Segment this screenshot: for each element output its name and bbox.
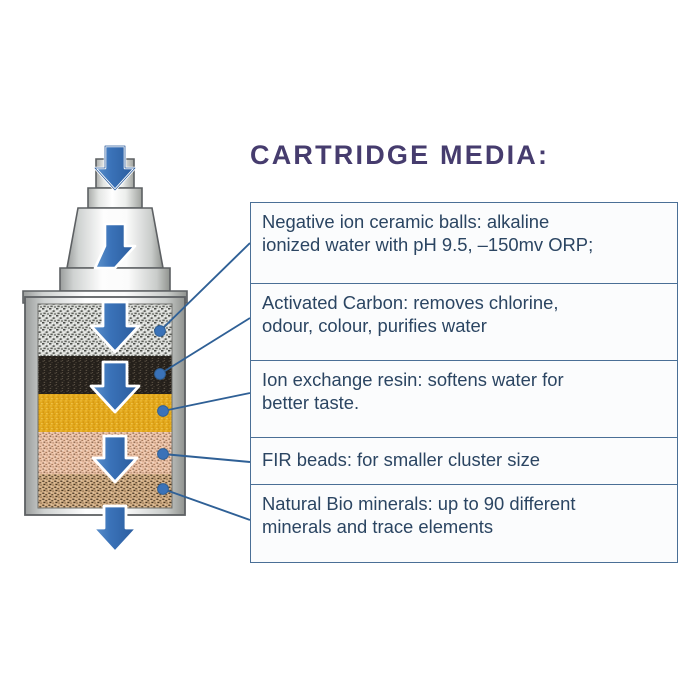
callout-ion-exchange-resin[interactable]: Ion exchange resin: softens water for be…	[251, 361, 677, 438]
media-layer-activated-carbon	[38, 356, 172, 394]
callout-negative-ion-ceramic-balls[interactable]: Negative ion ceramic balls: alkaline ion…	[251, 203, 677, 284]
callout-line-1: Activated Carbon: removes chlorine,	[262, 291, 667, 314]
diagram-canvas: CARTRIDGE MEDIA: Negative ion ceramic ba…	[0, 0, 700, 700]
flow-arrow-2	[95, 224, 135, 268]
leader-line-natural-bio-minerals	[158, 484, 250, 520]
leader-line-negative-ion-ceramic-balls	[155, 243, 250, 336]
cartridge-body	[25, 297, 185, 515]
callout-fir-beads[interactable]: FIR beads: for smaller cluster size	[251, 438, 677, 485]
callout-activated-carbon[interactable]: Activated Carbon: removes chlorine, odou…	[251, 284, 677, 361]
cartridge-cone	[67, 208, 163, 268]
flow-arrow-outlet	[93, 506, 137, 552]
media-layer-negative-ion-ceramic-balls	[38, 304, 172, 356]
cartridge-second-step	[88, 188, 142, 208]
leader-line-fir-beads	[158, 449, 250, 462]
media-layer-ion-exchange-resin	[38, 394, 172, 432]
cartridge-rim-flange	[23, 291, 187, 303]
callout-natural-bio-minerals[interactable]: Natural Bio minerals: up to 90 different…	[251, 485, 677, 562]
media-layer-natural-bio-minerals	[38, 474, 172, 508]
callout-line-2: minerals and trace elements	[262, 515, 667, 538]
flow-arrow-4	[91, 362, 139, 412]
callout-line-2: odour, colour, purifies water	[262, 314, 667, 337]
callout-line-1: Ion exchange resin: softens water for	[262, 368, 667, 391]
flow-arrow-3	[91, 302, 139, 352]
callout-line-2: ionized water with pH 9.5, –150mv ORP;	[262, 233, 667, 256]
media-layer-fir-beads	[38, 432, 172, 474]
callout-line-1: Natural Bio minerals: up to 90 different	[262, 492, 667, 515]
callout-line-1: Negative ion ceramic balls: alkaline	[262, 210, 667, 233]
cartridge-collar	[60, 268, 170, 291]
leader-line-activated-carbon	[155, 318, 250, 379]
cartridge-media-list: Negative ion ceramic balls: alkaline ion…	[250, 202, 678, 563]
flow-arrow-1	[95, 146, 135, 190]
callout-line-2: better taste.	[262, 391, 667, 414]
flow-arrow-5	[93, 436, 137, 482]
cartridge-top-neck	[96, 159, 134, 188]
page-title: CARTRIDGE MEDIA:	[250, 140, 680, 171]
leader-line-ion-exchange-resin	[158, 393, 250, 416]
callout-line-1: FIR beads: for smaller cluster size	[262, 448, 667, 471]
